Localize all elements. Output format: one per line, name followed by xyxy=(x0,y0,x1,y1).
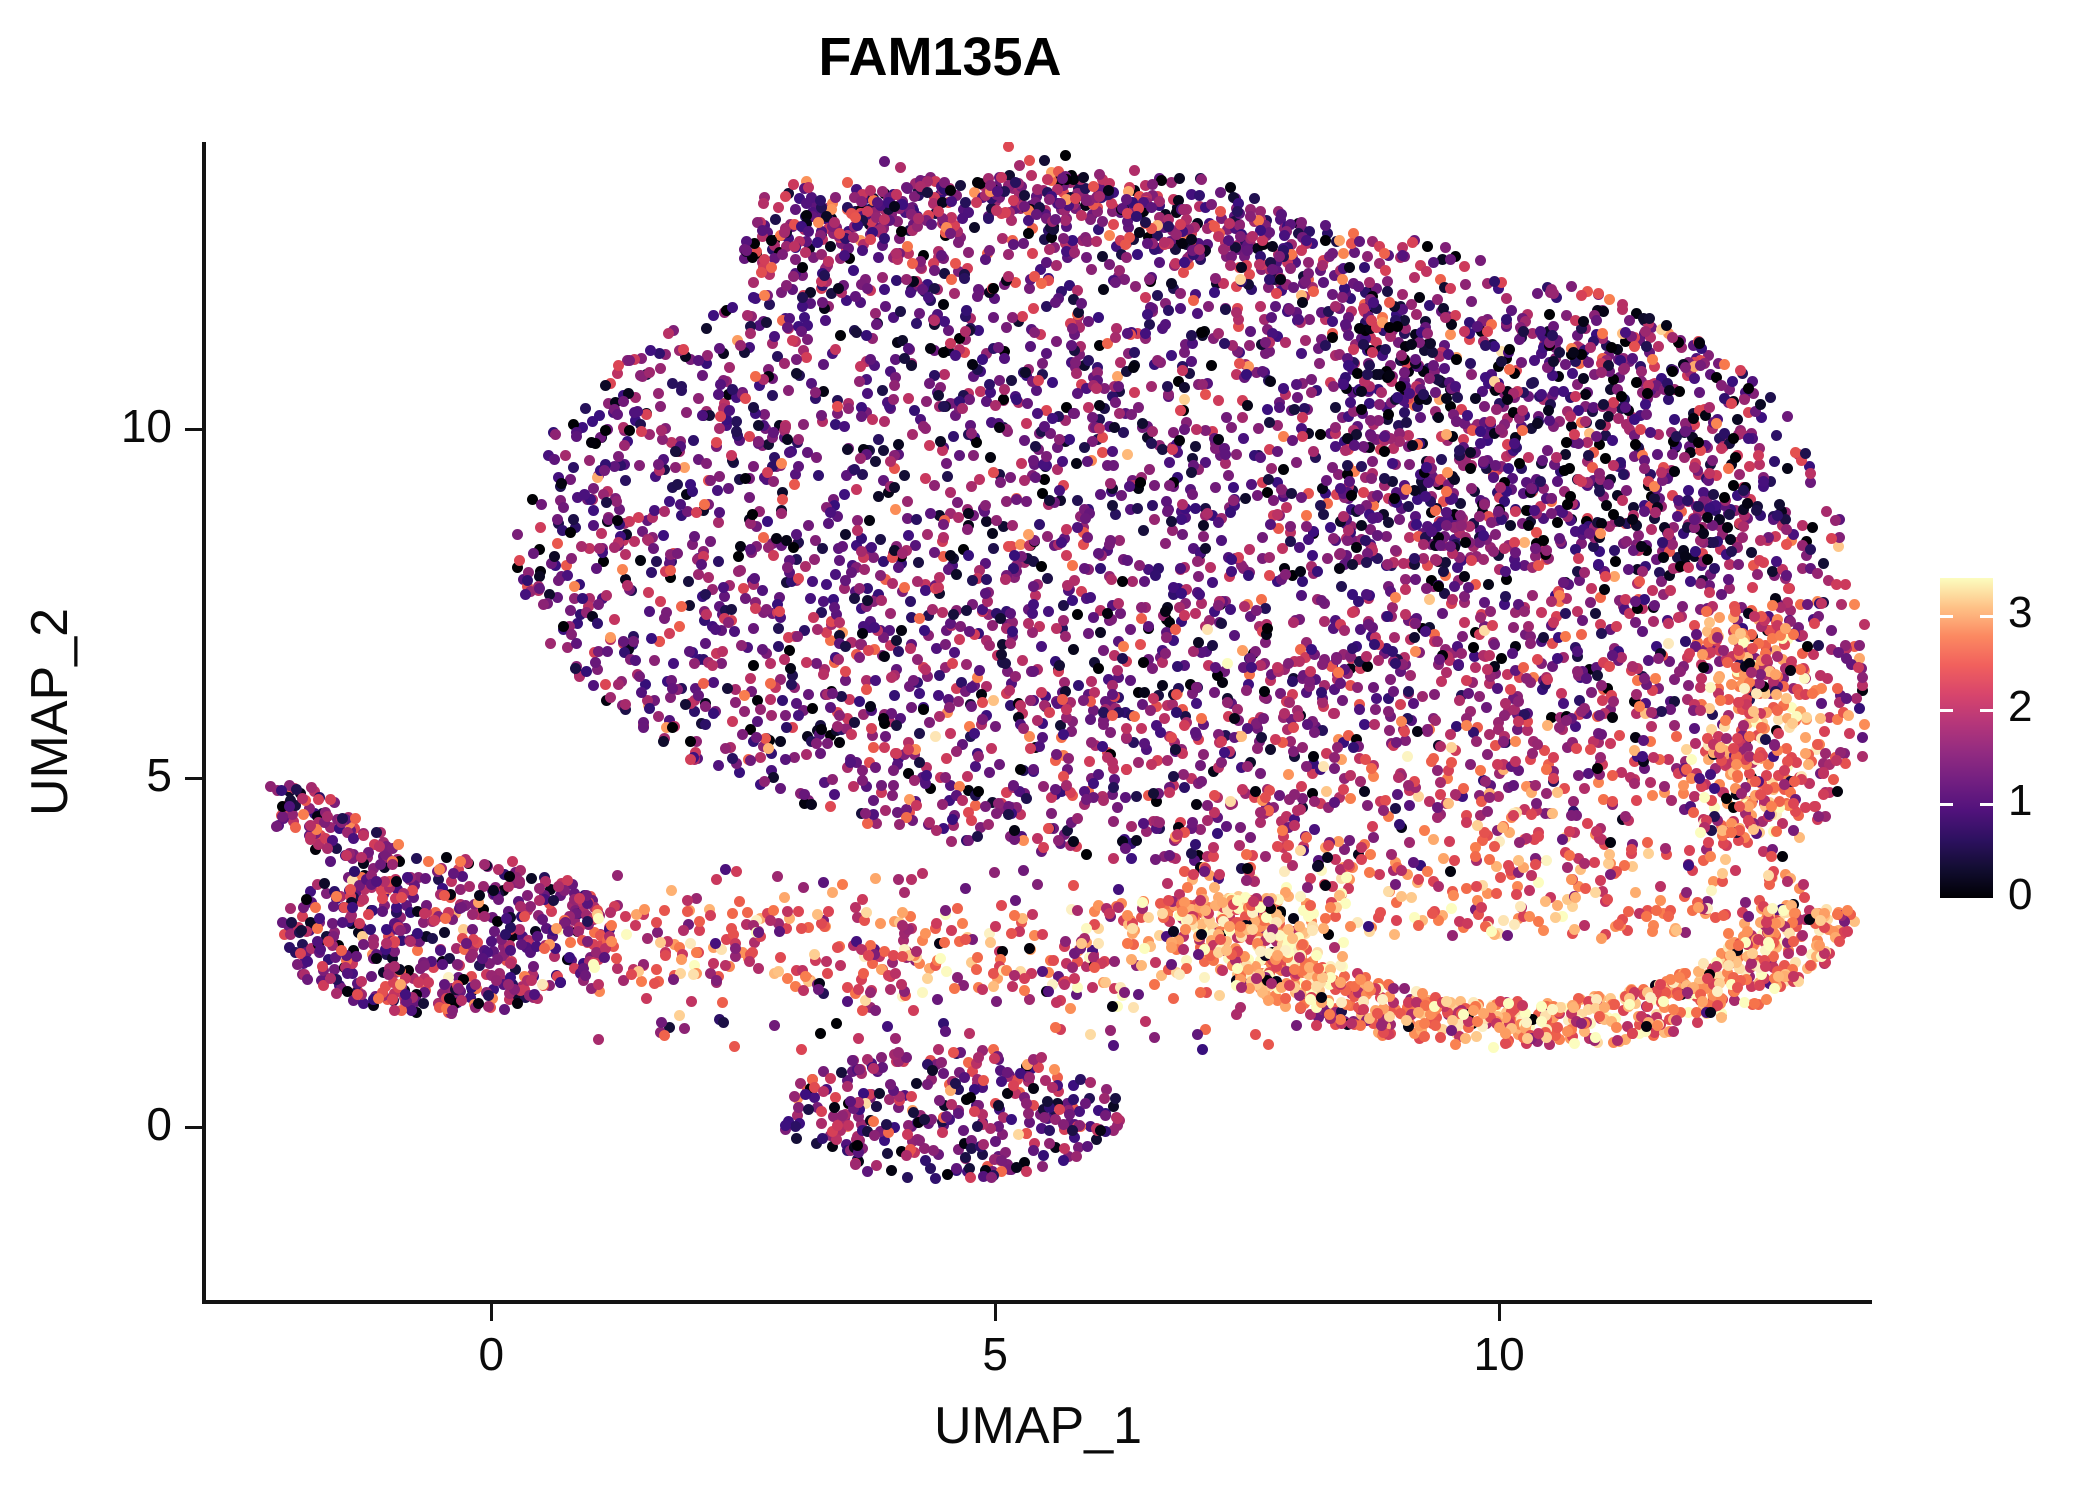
scatter-point xyxy=(1120,792,1131,803)
scatter-point xyxy=(1087,412,1098,423)
scatter-point xyxy=(813,470,824,481)
scatter-point xyxy=(1043,823,1054,834)
scatter-point xyxy=(717,646,728,657)
scatter-point xyxy=(727,753,738,764)
scatter-point xyxy=(1465,358,1476,369)
scatter-point xyxy=(1283,769,1294,780)
scatter-points-layer xyxy=(204,142,1872,1302)
scatter-point xyxy=(727,716,738,727)
scatter-point xyxy=(1410,646,1421,657)
scatter-point xyxy=(1088,612,1099,623)
scatter-point xyxy=(947,814,958,825)
scatter-point xyxy=(1689,723,1700,734)
scatter-point xyxy=(1461,817,1472,828)
scatter-point xyxy=(767,390,778,401)
scatter-point xyxy=(1095,489,1106,500)
scatter-point xyxy=(646,633,657,644)
scatter-point xyxy=(1258,713,1269,724)
scatter-point xyxy=(991,808,1002,819)
scatter-point xyxy=(1241,685,1252,696)
scatter-point xyxy=(870,456,881,467)
scatter-point xyxy=(1093,312,1104,323)
scatter-point xyxy=(1037,732,1048,743)
scatter-point xyxy=(1160,648,1171,659)
scatter-point xyxy=(1003,809,1014,820)
scatter-point xyxy=(1216,535,1227,546)
scatter-point xyxy=(1788,825,1799,836)
umap-feature-plot: FAM135A 0510 0510 UMAP_1 UMAP_2 3210 xyxy=(0,0,2100,1500)
scatter-point xyxy=(970,761,981,772)
scatter-point xyxy=(1175,563,1186,574)
scatter-point xyxy=(1436,454,1447,465)
scatter-point xyxy=(1176,514,1187,525)
scatter-point xyxy=(1538,632,1549,643)
scatter-point xyxy=(1108,460,1119,471)
scatter-point xyxy=(1513,855,1524,866)
scatter-point xyxy=(1853,662,1864,673)
scatter-point xyxy=(1706,885,1717,896)
scatter-point xyxy=(1319,616,1330,627)
scatter-point xyxy=(1019,435,1030,446)
scatter-point xyxy=(977,697,988,708)
scatter-point xyxy=(1665,585,1676,596)
scatter-point xyxy=(777,494,788,505)
scatter-point xyxy=(1034,519,1045,530)
scatter-point xyxy=(1147,663,1158,674)
scatter-point xyxy=(948,609,959,620)
scatter-point xyxy=(636,426,647,437)
scatter-point xyxy=(1057,456,1068,467)
scatter-point xyxy=(1262,623,1273,634)
scatter-point xyxy=(985,452,996,463)
scatter-point xyxy=(933,390,944,401)
scatter-point xyxy=(1209,287,1220,298)
scatter-point xyxy=(793,434,804,445)
scatter-point xyxy=(1548,288,1559,299)
scatter-point xyxy=(911,318,922,329)
scatter-point xyxy=(770,214,781,225)
scatter-point xyxy=(984,640,995,651)
scatter-point xyxy=(1202,800,1213,811)
scatter-point xyxy=(966,701,977,712)
scatter-point xyxy=(1237,412,1248,423)
scatter-point xyxy=(1082,532,1093,543)
scatter-point xyxy=(1194,589,1205,600)
scatter-point xyxy=(1287,435,1298,446)
scatter-point xyxy=(1600,571,1611,582)
scatter-point xyxy=(653,388,664,399)
scatter-point xyxy=(1225,507,1236,518)
scatter-point xyxy=(1036,687,1047,698)
scatter-point xyxy=(1288,617,1299,628)
scatter-point xyxy=(594,543,605,554)
scatter-point xyxy=(1297,742,1308,753)
scatter-point xyxy=(1207,577,1218,588)
scatter-point xyxy=(1650,673,1661,684)
scatter-point xyxy=(840,666,851,677)
scatter-point xyxy=(1424,594,1435,605)
scatter-point xyxy=(791,368,802,379)
scatter-point xyxy=(870,308,881,319)
scatter-point xyxy=(1571,743,1582,754)
scatter-point xyxy=(887,790,898,801)
scatter-point xyxy=(1107,710,1118,721)
scatter-point xyxy=(1166,350,1177,361)
scatter-point xyxy=(1198,520,1209,531)
scatter-point xyxy=(1474,691,1485,702)
scatter-point xyxy=(1468,642,1479,653)
scatter-point xyxy=(986,743,997,754)
scatter-point xyxy=(1373,655,1384,666)
scatter-point xyxy=(1405,670,1416,681)
scatter-point xyxy=(635,555,646,566)
scatter-point xyxy=(757,585,768,596)
scatter-point xyxy=(897,548,908,559)
scatter-point xyxy=(1122,328,1133,339)
scatter-point xyxy=(1558,698,1569,709)
scatter-point xyxy=(1296,348,1307,359)
scatter-point xyxy=(1841,693,1852,704)
scatter-point xyxy=(1068,644,1079,655)
scatter-point xyxy=(681,407,692,418)
scatter-point xyxy=(1397,289,1408,300)
scatter-point xyxy=(1445,283,1456,294)
scatter-point xyxy=(938,299,949,310)
scatter-point xyxy=(646,567,657,578)
scatter-point xyxy=(1200,389,1211,400)
scatter-point xyxy=(766,710,777,721)
scatter-point xyxy=(1548,752,1559,763)
scatter-point xyxy=(1546,596,1557,607)
scatter-point xyxy=(1188,295,1199,306)
scatter-point xyxy=(1007,520,1018,531)
scatter-point xyxy=(724,362,735,373)
scatter-point xyxy=(571,638,582,649)
scatter-point xyxy=(1061,524,1072,535)
scatter-point xyxy=(857,628,868,639)
scatter-point xyxy=(1042,573,1053,584)
scatter-point xyxy=(1594,710,1605,721)
scatter-point xyxy=(792,631,803,642)
scatter-point xyxy=(1446,757,1457,768)
scatter-point xyxy=(1463,688,1474,699)
scatter-point xyxy=(1190,441,1201,452)
scatter-point xyxy=(565,527,576,538)
scatter-point xyxy=(1734,469,1745,480)
scatter-point xyxy=(849,464,860,475)
scatter-point xyxy=(1655,895,1666,906)
scatter-point xyxy=(724,405,735,416)
scatter-point xyxy=(1499,710,1510,721)
scatter-point xyxy=(1312,861,1323,872)
scatter-point xyxy=(1019,475,1030,486)
scatter-point xyxy=(1126,853,1137,864)
scatter-point xyxy=(655,363,666,374)
scatter-point xyxy=(1070,357,1081,368)
scatter-point xyxy=(1225,796,1236,807)
scatter-point xyxy=(1717,868,1728,879)
scatter-point xyxy=(1179,610,1190,621)
scatter-point xyxy=(1172,661,1183,672)
scatter-point xyxy=(1733,559,1744,570)
scatter-point xyxy=(1547,808,1558,819)
scatter-point xyxy=(1179,782,1190,793)
scatter-point xyxy=(1163,305,1174,316)
scatter-point xyxy=(1193,571,1204,582)
scatter-point xyxy=(1274,402,1285,413)
scatter-point xyxy=(1236,731,1247,742)
scatter-point xyxy=(1117,653,1128,664)
scatter-point xyxy=(1663,638,1674,649)
scatter-point xyxy=(950,350,961,361)
scatter-point xyxy=(1492,759,1503,770)
scatter-point xyxy=(1491,888,1502,899)
scatter-point xyxy=(722,683,733,694)
scatter-point xyxy=(891,635,902,646)
scatter-point xyxy=(1301,832,1312,843)
scatter-point xyxy=(676,601,687,612)
scatter-point xyxy=(1466,483,1477,494)
scatter-point xyxy=(867,414,878,425)
scatter-point xyxy=(1160,319,1171,330)
scatter-point xyxy=(1579,783,1590,794)
scatter-point xyxy=(1125,624,1136,635)
scatter-point xyxy=(1359,786,1370,797)
scatter-point xyxy=(1255,301,1266,312)
scatter-point xyxy=(535,522,546,533)
scatter-point xyxy=(1265,744,1276,755)
scatter-point xyxy=(568,514,579,525)
scatter-point xyxy=(1466,296,1477,307)
scatter-point xyxy=(1604,849,1615,860)
scatter-point xyxy=(888,394,899,405)
scatter-point xyxy=(1444,836,1455,847)
scatter-point xyxy=(1264,552,1275,563)
scatter-point xyxy=(1213,600,1224,611)
scatter-point xyxy=(1135,639,1146,650)
scatter-point xyxy=(1570,892,1581,903)
scatter-point xyxy=(1005,608,1016,619)
scatter-point xyxy=(1461,720,1472,731)
scatter-point xyxy=(1647,354,1658,365)
scatter-point xyxy=(1072,813,1083,824)
scatter-point xyxy=(1367,821,1378,832)
scatter-point xyxy=(702,350,713,361)
scatter-point xyxy=(1139,738,1150,749)
scatter-point xyxy=(1296,590,1307,601)
scatter-point xyxy=(1581,673,1592,684)
scatter-point xyxy=(840,641,851,652)
scatter-point xyxy=(1840,579,1851,590)
scatter-point xyxy=(1191,698,1202,709)
scatter-point xyxy=(1645,777,1656,788)
scatter-point xyxy=(1430,715,1441,726)
scatter-point xyxy=(821,579,832,590)
scatter-point xyxy=(865,354,876,365)
scatter-point xyxy=(1432,765,1443,776)
scatter-point xyxy=(1849,599,1860,610)
scatter-point xyxy=(712,485,723,496)
scatter-point xyxy=(592,618,603,629)
scatter-point xyxy=(1011,394,1022,405)
scatter-point xyxy=(1660,843,1671,854)
scatter-point xyxy=(1262,404,1273,415)
scatter-point xyxy=(1514,837,1525,848)
scatter-point xyxy=(630,655,641,666)
scatter-point xyxy=(1121,764,1132,775)
scatter-point xyxy=(879,284,890,295)
scatter-point xyxy=(703,572,714,583)
scatter-point xyxy=(1140,292,1151,303)
scatter-point xyxy=(1390,803,1401,814)
scatter-point xyxy=(951,569,962,580)
scatter-point xyxy=(1561,715,1572,726)
scatter-point xyxy=(1614,730,1625,741)
scatter-point xyxy=(752,716,763,727)
scatter-point xyxy=(1095,627,1106,638)
scatter-point xyxy=(870,762,881,773)
scatter-point xyxy=(1202,815,1213,826)
scatter-point xyxy=(1438,853,1449,864)
scatter-point xyxy=(893,439,904,450)
scatter-point xyxy=(1297,431,1308,442)
scatter-point xyxy=(1859,719,1870,730)
scatter-point xyxy=(775,736,786,747)
scatter-point xyxy=(672,479,683,490)
scatter-point xyxy=(1505,684,1516,695)
scatter-point xyxy=(1395,699,1406,710)
scatter-point xyxy=(1366,763,1377,774)
scatter-point xyxy=(1229,713,1240,724)
scatter-point xyxy=(1348,742,1359,753)
scatter-point xyxy=(1404,800,1415,811)
scatter-point xyxy=(700,719,711,730)
scatter-point xyxy=(1384,725,1395,736)
scatter-point xyxy=(1435,777,1446,788)
scatter-point xyxy=(893,562,904,573)
scatter-point xyxy=(994,422,1005,433)
scatter-point xyxy=(1389,632,1400,643)
scatter-point xyxy=(762,467,773,478)
scatter-point xyxy=(599,465,610,476)
scatter-point xyxy=(649,505,660,516)
scatter-point xyxy=(1069,247,1080,258)
scatter-point xyxy=(665,565,676,576)
scatter-point xyxy=(1513,696,1524,707)
scatter-point xyxy=(1523,621,1534,632)
scatter-point xyxy=(1110,332,1121,343)
scatter-point xyxy=(1116,490,1127,501)
scatter-point xyxy=(759,776,770,787)
scatter-point xyxy=(1306,374,1317,385)
scatter-point xyxy=(924,717,935,728)
scatter-point xyxy=(670,446,681,457)
scatter-point xyxy=(528,548,539,559)
scatter-point xyxy=(1069,408,1080,419)
scatter-point xyxy=(1747,582,1758,593)
scatter-point xyxy=(553,575,564,586)
scatter-point xyxy=(1222,697,1233,708)
scatter-point xyxy=(990,400,1001,411)
scatter-point xyxy=(1652,449,1663,460)
scatter-point xyxy=(1445,729,1456,740)
scatter-point xyxy=(825,801,836,812)
scatter-point xyxy=(1822,673,1833,684)
scatter-point xyxy=(1515,901,1526,912)
scatter-point xyxy=(1681,887,1692,898)
scatter-point xyxy=(1318,923,1329,934)
scatter-point xyxy=(1828,774,1839,785)
scatter-point xyxy=(1104,539,1115,550)
scatter-point xyxy=(1579,703,1590,714)
scatter-point xyxy=(708,310,719,321)
scatter-point xyxy=(1121,252,1132,263)
scatter-point xyxy=(973,786,984,797)
scatter-point xyxy=(520,589,531,600)
scatter-point xyxy=(780,754,791,765)
scatter-point xyxy=(837,541,848,552)
scatter-point xyxy=(1234,358,1245,369)
scatter-point xyxy=(873,252,884,263)
scatter-point xyxy=(1370,704,1381,715)
scatter-point xyxy=(1113,381,1124,392)
scatter-point xyxy=(1354,704,1365,715)
scatter-point xyxy=(1579,920,1590,931)
scatter-point xyxy=(820,315,831,326)
scatter-point xyxy=(1329,797,1340,808)
scatter-point xyxy=(1807,522,1818,533)
scatter-point xyxy=(1782,463,1793,474)
scatter-point xyxy=(871,319,882,330)
scatter-point xyxy=(797,292,808,303)
scatter-point xyxy=(1605,869,1616,880)
scatter-point xyxy=(1027,627,1038,638)
scatter-point xyxy=(1666,795,1677,806)
scatter-point xyxy=(829,789,840,800)
scatter-point xyxy=(908,675,919,686)
scatter-point xyxy=(1782,411,1793,422)
scatter-point xyxy=(843,403,854,414)
scatter-point xyxy=(894,819,905,830)
scatter-point xyxy=(973,751,984,762)
scatter-point xyxy=(707,660,718,671)
scatter-point xyxy=(1344,835,1355,846)
scatter-point xyxy=(934,711,945,722)
scatter-point xyxy=(1727,376,1738,387)
scatter-point xyxy=(1356,842,1367,853)
scatter-point xyxy=(1110,397,1121,408)
scatter-point xyxy=(658,530,669,541)
scatter-point xyxy=(1271,288,1282,299)
scatter-point xyxy=(1394,514,1405,525)
scatter-point xyxy=(514,555,525,566)
scatter-point xyxy=(1535,326,1546,337)
scatter-point xyxy=(1216,736,1227,747)
scatter-point xyxy=(1604,294,1615,305)
scatter-point xyxy=(991,515,1002,526)
scatter-point xyxy=(588,680,599,691)
scatter-point xyxy=(1223,470,1234,481)
scatter-point xyxy=(1479,401,1490,412)
scatter-point xyxy=(1028,666,1039,677)
scatter-point xyxy=(571,431,582,442)
scatter-point xyxy=(1434,654,1445,665)
scatter-point xyxy=(1146,381,1157,392)
scatter-point xyxy=(1471,881,1482,892)
scatter-point xyxy=(744,492,755,503)
scatter-point xyxy=(993,342,1004,353)
scatter-point xyxy=(1368,682,1379,693)
